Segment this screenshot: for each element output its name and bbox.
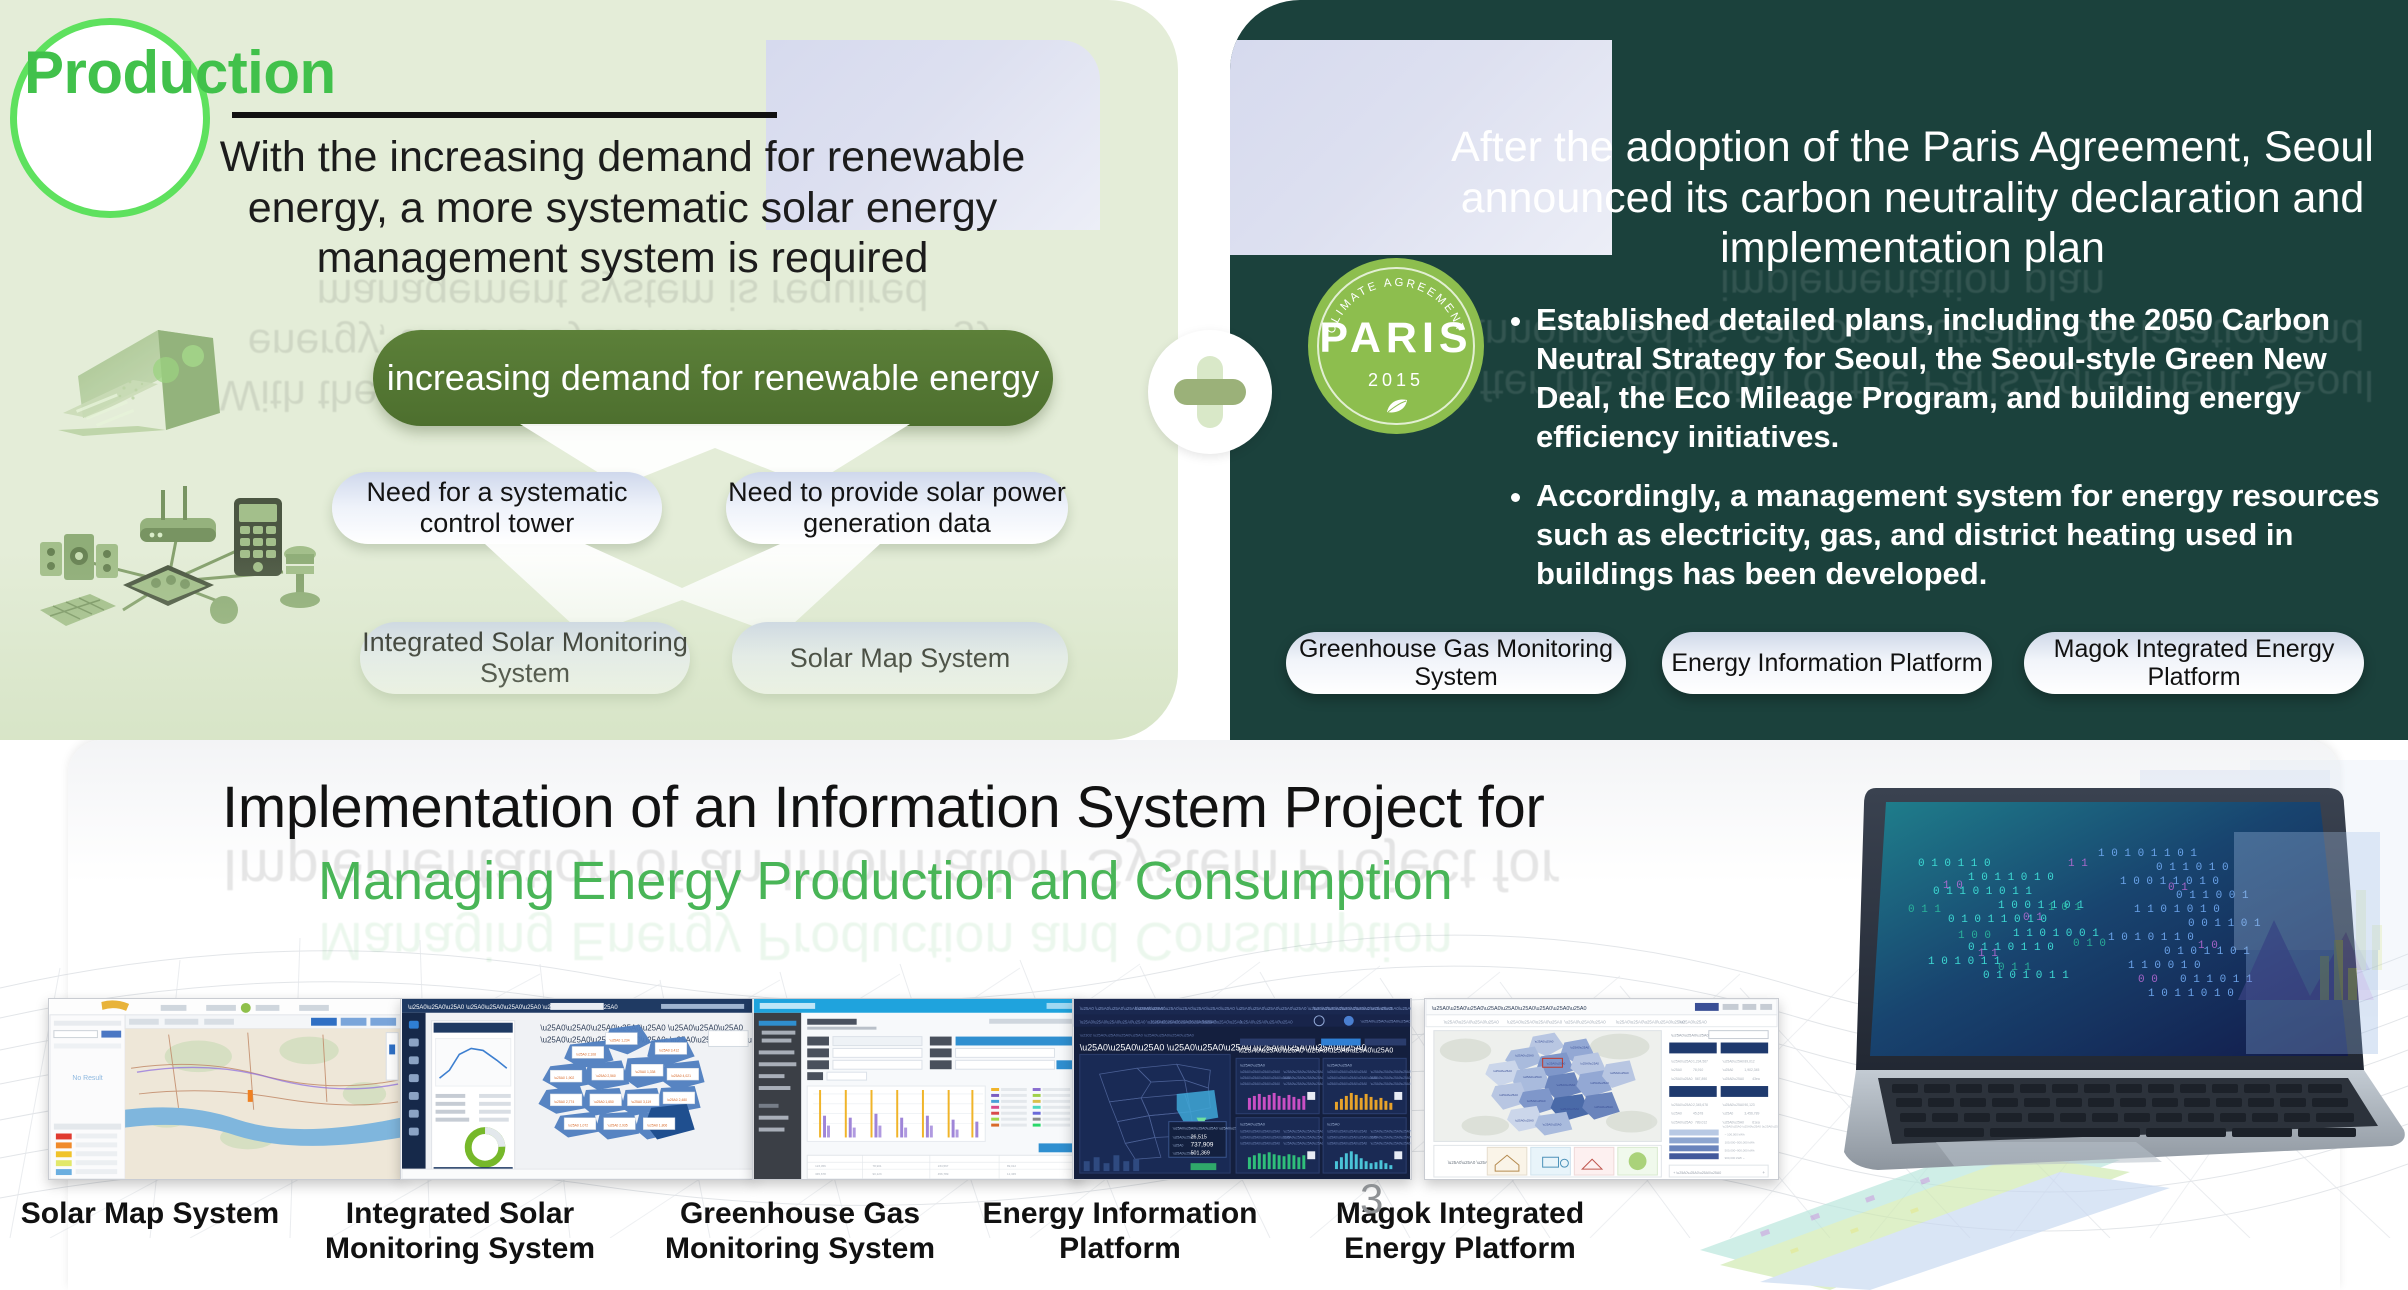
svg-text:\u25A0\u25A0\u25A0\u25A0\u25A0: \u25A0\u25A0\u25A0\u25A0\u25A0 — [1371, 1070, 1412, 1074]
svg-text:\u25A0 1,234: \u25A0 1,234 — [610, 1039, 630, 1043]
iot-device-network-illustration — [28, 470, 328, 630]
svg-text:\u25A0\u25A0\u25A0: \u25A0\u25A0\u25A0 — [1564, 1020, 1606, 1025]
svg-text:0 1 1 0 1 0: 0 1 1 0 1 0 — [2156, 862, 2229, 874]
svg-text:\u25A0\u25A0: \u25A0\u25A0 — [1723, 1103, 1744, 1107]
svg-text:\u25A0: \u25A0 — [1723, 1068, 1734, 1072]
leaf-icon — [1386, 398, 1408, 414]
svg-text:\u25A0\u25A0: \u25A0\u25A0 — [1610, 1071, 1629, 1075]
svg-text:900,000 kWh ~: 900,000 kWh ~ — [1725, 1156, 1745, 1160]
svg-text:\u25A0\u25A0\u25A0\u25A0\u25A0: \u25A0\u25A0\u25A0\u25A0\u25A0 — [1371, 1076, 1412, 1080]
svg-text:234,567: 234,567 — [938, 1164, 949, 1168]
svg-text:0 1 1: 0 1 1 — [1908, 904, 1941, 916]
svg-text:\u25A0\u25A0\u25A0\u25A0: \u25A0\u25A0\u25A0\u25A0 — [1371, 1082, 1411, 1086]
svg-text:1 0 1 1 0 1 0: 1 0 1 1 0 1 0 — [2148, 988, 2234, 1000]
consumption-panel: After the adoption of the Paris Agreemen… — [1230, 0, 2408, 740]
svg-text:\u25A0\u25A0: \u25A0\u25A0 — [1560, 1107, 1579, 1111]
svg-text:\u25A0\u25A0: \u25A0\u25A0 — [1570, 1045, 1589, 1049]
thumbnail-integrated-solar-monitoring[interactable]: \u25A0\u25A0\u25A0 \u25A0\u25A0\u25A0\u2… — [400, 998, 755, 1180]
svg-text:\u25A0 3,412: \u25A0 3,412 — [659, 1048, 679, 1052]
svg-text:500,000~900,000 kWh: 500,000~900,000 kWh — [1725, 1148, 1755, 1152]
svg-text:\u25A0\u25A0: \u25A0\u25A0 — [1240, 1062, 1266, 1067]
thumbnail-greenhouse-gas-monitoring[interactable]: 123,45678,901234,56789,012 345,67890,123… — [752, 998, 1082, 1180]
svg-text:\u25A0\u25A0: \u25A0\u25A0 — [1240, 1122, 1266, 1127]
svg-text:1 0: 1 0 — [2198, 940, 2218, 952]
svg-text:\u25A0\u25A0\u25A0\u25A0: \u25A0\u25A0\u25A0\u25A0 — [1361, 1019, 1412, 1024]
svg-text:1 0 1: 1 0 1 — [2048, 902, 2081, 914]
svg-text:\u25A0\u25A0\u25A0\u25A0: \u25A0\u25A0\u25A0\u25A0 — [1284, 1141, 1324, 1145]
svg-text:\u25A0\u25A0\u25A0\u25A0: \u25A0\u25A0\u25A0\u25A0 — [1327, 1070, 1367, 1074]
svg-text:\u25A0\u25A0: \u25A0\u25A0 — [1671, 1059, 1692, 1063]
svg-text:\u25A0\u25A0\u25A0\u25A0 \u25A: \u25A0\u25A0\u25A0\u25A0 \u25A0\u25A0\u2… — [1313, 1006, 1412, 1011]
svg-text:\u25A0\u25A0: \u25A0\u25A0 — [1679, 1020, 1707, 1025]
svg-text:\u25A0\u25A0\u25A0\u25A0: \u25A0\u25A0\u25A0\u25A0 — [1284, 1082, 1324, 1086]
consumption-pill-2: Energy Information Platform — [1662, 632, 1992, 694]
thumbnail-label-2: Integrated Solar Monitoring System — [300, 1196, 620, 1267]
svg-text:\u25A0\u25A0: \u25A0\u25A0 — [1543, 1123, 1562, 1127]
svg-text:\u25A0\u25A0: \u25A0\u25A0 — [1580, 1061, 1599, 1065]
svg-text:\u25A0 2,480: \u25A0 2,480 — [667, 1098, 687, 1102]
svg-text:90,123: 90,123 — [1744, 1103, 1754, 1107]
svg-text:89,012: 89,012 — [1744, 1059, 1754, 1063]
svg-text:345,678: 345,678 — [815, 1172, 826, 1176]
badge-year: 2015 — [1308, 370, 1484, 391]
svg-text:0 0: 0 0 — [2138, 974, 2158, 986]
svg-text:\u25A0\u25A0\u25A0\u25A0: \u25A0\u25A0\u25A0\u25A0 — [1240, 1020, 1293, 1025]
svg-text:\u25A0\u25A0: \u25A0\u25A0 — [1590, 1081, 1609, 1085]
svg-text:\u25A0\u25A0\u25A0\u25A0: \u25A0\u25A0\u25A0\u25A0 — [1507, 1020, 1563, 1025]
svg-text:2,345,678: 2,345,678 — [1693, 1103, 1708, 1107]
svg-text:1 0 1 0 1 1 0: 1 0 1 0 1 1 0 — [2108, 932, 2194, 944]
svg-text:\u25A0\u25A0: \u25A0\u25A0 — [1723, 1059, 1744, 1063]
svg-text:\u25A0\u25A0: \u25A0\u25A0 — [1515, 1053, 1534, 1057]
svg-text:1 1: 1 1 — [1978, 948, 1998, 960]
consumption-bullet-1: Established detailed plans, including th… — [1536, 300, 2396, 456]
svg-text:No Result: No Result — [72, 1075, 102, 1082]
svg-text:\u25A0\u25A0\u25A0\u25A0\u25A0: \u25A0\u25A0\u25A0\u25A0\u25A0 — [1371, 1130, 1412, 1134]
svg-text:\u25A0\u25A0: \u25A0\u25A0 — [1671, 1103, 1692, 1107]
svg-text:\u25A0\u25A0\u25A0\u25A0: \u25A0\u25A0\u25A0\u25A0 — [1327, 1082, 1367, 1086]
svg-text:+: + — [1762, 1171, 1765, 1176]
svg-text:\u25A0\u25A0\u25A0\u25A0: \u25A0\u25A0\u25A0\u25A0 — [1371, 1141, 1411, 1145]
svg-text:1,234,567: 1,234,567 — [1693, 1059, 1708, 1063]
svg-text:\u25A0 1,806: \u25A0 1,806 — [647, 1124, 667, 1128]
svg-text:89,012: 89,012 — [1007, 1164, 1016, 1168]
svg-text:\u25A0\u25A0\u25A0\u25A0: \u25A0\u25A0\u25A0\u25A0 — [1444, 1020, 1500, 1025]
svg-text:26,515: 26,515 — [1191, 1134, 1207, 1140]
consumption-bullet-list: Established detailed plans, including th… — [1506, 300, 2396, 613]
svg-text:78,910: 78,910 — [1693, 1068, 1703, 1072]
svg-text:0 1 0: 0 1 0 — [2073, 938, 2106, 950]
svg-text:\u25A0\u25A0: \u25A0\u25A0 — [1557, 1083, 1576, 1087]
svg-text:\u25A0\u25A0\u25A0\u25A0: \u25A0\u25A0\u25A0\u25A0 — [1240, 1141, 1280, 1145]
svg-text:\u25A0\u25A0: \u25A0\u25A0 — [1527, 1099, 1546, 1103]
svg-text:0 1: 0 1 — [2023, 912, 2043, 924]
slide-root: Production With the increasing demand fo… — [0, 0, 2408, 1290]
svg-text:501,369: 501,369 — [1191, 1150, 1210, 1156]
svg-text:1,902,345: 1,902,345 — [1744, 1068, 1759, 1072]
svg-text:\u25A0 1,072: \u25A0 1,072 — [568, 1124, 588, 1128]
svg-text:\u25A0\u25A0\u25A0\u25A0\u25A0: \u25A0\u25A0\u25A0\u25A0\u25A0 — [1371, 1135, 1412, 1139]
svg-text:\u25A0\u25A0\u25A0\u25A0: \u25A0\u25A0\u25A0\u25A0 — [1240, 1130, 1280, 1134]
thumbnail-label-4: Energy Information Platform — [960, 1196, 1280, 1267]
svg-text:0 1 1 0 1 1: 0 1 1 0 1 1 — [2180, 974, 2253, 986]
bottom-title-line-2: Managing Energy Production and Consumpti… — [318, 850, 1818, 912]
svg-text:3,456,789: 3,456,789 — [1744, 1112, 1759, 1116]
thumbnail-magok-integrated-energy-platform[interactable]: \u25A0\u25A0\u25A0\u25A0\u25A0\u25A0\u25… — [1424, 998, 1779, 1180]
svg-text:\u25A0 2,108: \u25A0 2,108 — [576, 1052, 596, 1056]
thumbnail-label-3: Greenhouse Gas Monitoring System — [640, 1196, 960, 1267]
svg-text:\u25A0\u25A0: \u25A0\u25A0 — [1499, 1093, 1518, 1097]
svg-text:\u25A0\u25A0\u25A0\u25A0\u25A0: \u25A0\u25A0\u25A0\u25A0\u25A0\u25A0\u25… — [1432, 1006, 1587, 1012]
page-number: 3 — [1360, 1175, 1383, 1223]
svg-text:\u25A0\u25A0: \u25A0\u25A0 — [1515, 1119, 1534, 1123]
bottom-title-line-1: Implementation of an Information System … — [222, 774, 1902, 841]
svg-text:789,012: 789,012 — [1695, 1121, 1707, 1125]
svg-text:1 0: 1 0 — [1943, 880, 1963, 892]
svg-text:12,345: 12,345 — [1007, 1172, 1016, 1176]
svg-text:\u25A0\u25A0: \u25A0\u25A0 — [1723, 1077, 1744, 1081]
svg-text:\u25A0\u25A0: \u25A0\u25A0 — [1671, 1077, 1692, 1081]
svg-text:\u25A0\u25A0: \u25A0\u25A0 — [1493, 1069, 1512, 1073]
consumption-pill-1: Greenhouse Gas Monitoring System — [1286, 632, 1626, 694]
thumbnail-energy-information-platform[interactable]: \u25A0 \u25A0\u25A0\u25A0\u25A0\u25A0 \u… — [1072, 998, 1412, 1180]
plus-connector — [1148, 330, 1272, 454]
production-lead-text: With the increasing demand for renewable… — [170, 132, 1075, 284]
plus-horizontal-bar — [1174, 379, 1246, 405]
svg-text:\u25A0\u25A0\u25A0\u25A0\u25A0: \u25A0\u25A0\u25A0\u25A0\u25A0 — [1616, 1020, 1685, 1025]
svg-text:1 1 0 1 0 1 0: 1 1 0 1 0 1 0 — [2134, 904, 2220, 916]
svg-text:1 0 1 1 0 1 0: 1 0 1 1 0 1 0 — [1968, 872, 2054, 884]
svg-text:\u25A0 2,560: \u25A0 2,560 — [596, 1074, 616, 1078]
svg-text:\u25A0\u25A0\u25A0\u25A0: \u25A0\u25A0\u25A0\u25A0 — [1240, 1082, 1280, 1086]
svg-text:0 1: 0 1 — [2168, 882, 2188, 894]
svg-text:\u25A0\u25A0\u25A0\u25A0: \u25A0\u25A0\u25A0\u25A0 — [1327, 1130, 1367, 1134]
production-panel: Production With the increasing demand fo… — [0, 0, 1178, 740]
svg-text:90,123: 90,123 — [872, 1172, 881, 1176]
badge-main-text: PARIS — [1308, 314, 1484, 363]
svg-text:\u25A0\u25A0: \u25A0\u25A0 — [1535, 1040, 1554, 1044]
svg-text:+ \u25A0\u25A0\u25A0\u25A0: + \u25A0\u25A0\u25A0\u25A0 — [1673, 1171, 1721, 1175]
production-rule — [232, 112, 777, 118]
svg-text:\u25A0 2,935: \u25A0 2,935 — [608, 1124, 628, 1128]
svg-text:1 1: 1 1 — [2068, 858, 2088, 870]
svg-text:\u25A0\u25A0: \u25A0\u25A0 — [1327, 1062, 1353, 1067]
svg-text:\u25A0 2,774: \u25A0 2,774 — [554, 1100, 574, 1104]
need-box-1: Need for a systematic control tower — [332, 472, 662, 544]
svg-text:43ea: 43ea — [1752, 1077, 1760, 1081]
consumption-pill-3: Magok Integrated Energy Platform — [2024, 632, 2364, 694]
svg-text:1 0 1 0 1 1 0 1: 1 0 1 0 1 1 0 1 — [2098, 848, 2197, 860]
svg-text:45,678: 45,678 — [1693, 1112, 1703, 1116]
svg-text:\u25A0\u25A0: \u25A0\u25A0 — [1671, 1121, 1692, 1125]
production-title: Production — [24, 38, 336, 107]
svg-text:~ 100,000 kWh: ~ 100,000 kWh — [1725, 1132, 1745, 1136]
laptop-with-digital-world-map: 0 1 0 1 1 01 0 1 1 0 1 0 0 1 1 0 1 0 1 1… — [1768, 770, 2408, 1210]
svg-text:\u25A0: \u25A0 — [1671, 1068, 1682, 1072]
connector-stem — [1200, 430, 1220, 740]
flow-main-box: increasing demand for renewable energy — [373, 330, 1053, 426]
thumbnail-label-5: Magok Integrated Energy Platform — [1300, 1196, 1620, 1267]
svg-text:\u25A0\u25A0: \u25A0\u25A0 — [1523, 1075, 1542, 1079]
consumption-bullet-2: Accordingly, a management system for ene… — [1536, 476, 2396, 593]
thumbnail-label-1: Solar Map System — [0, 1196, 310, 1231]
svg-text:0 1 1: 0 1 1 — [1998, 962, 2031, 974]
svg-text:\u25A0: \u25A0 — [1671, 1112, 1682, 1116]
laptop-data-illustration — [38, 318, 313, 448]
svg-text:\u25A0\u25A0: \u25A0\u25A0 — [1594, 1105, 1613, 1109]
svg-text:\u25A0: \u25A0 — [1173, 1143, 1184, 1147]
thumbnail-solar-map-system[interactable]: No Result — [48, 998, 403, 1180]
svg-text:737,909: 737,909 — [1191, 1141, 1214, 1148]
svg-text:\u25A0 1,338: \u25A0 1,338 — [635, 1070, 655, 1074]
svg-text:\u25A0\u25A0: \u25A0\u25A0 — [1547, 1061, 1566, 1065]
svg-text:\u25A0 1,902: \u25A0 1,902 — [554, 1076, 574, 1080]
svg-text:\u25A0: \u25A0 — [1723, 1112, 1734, 1116]
system-box-2: Solar Map System — [732, 622, 1068, 694]
svg-text:\u25A0 1,650: \u25A0 1,650 — [594, 1100, 614, 1104]
paris-agreement-badge: CLIMATE AGREEMENT PARIS 2015 — [1308, 258, 1484, 434]
svg-text:567,890: 567,890 — [1695, 1077, 1707, 1081]
svg-text:\u25A0 4,021: \u25A0 4,021 — [671, 1074, 691, 1078]
svg-text:\u25A0\u25A0\u25A0\u25A0: \u25A0\u25A0\u25A0\u25A0 — [1327, 1141, 1367, 1145]
svg-text:1 1 0 0 1 0: 1 1 0 0 1 0 — [2128, 960, 2201, 972]
system-box-1: Integrated Solar Monitoring System — [360, 622, 690, 694]
svg-text:0 1 0 1 1 0: 0 1 0 1 1 0 — [1918, 858, 1991, 870]
svg-text:\u25A0: \u25A0 — [1327, 1122, 1340, 1127]
svg-text:\u25A0\u25A0\u25A0\u25A0: \u25A0\u25A0\u25A0\u25A0 — [1240, 1070, 1280, 1074]
svg-text:100,000~500,000 kWh: 100,000~500,000 kWh — [1725, 1140, 1755, 1144]
need-box-2: Need to provide solar power generation d… — [726, 472, 1068, 544]
svg-text:78,901: 78,901 — [872, 1164, 881, 1168]
consumption-lead-text: After the adoption of the Paris Agreemen… — [1440, 122, 2385, 274]
svg-text:123,456: 123,456 — [815, 1164, 826, 1168]
svg-text:\u25A0\u25A0\u25A0: \u25A0\u25A0\u25A0 — [1202, 1020, 1242, 1025]
svg-text:1 0 0: 1 0 0 — [1958, 930, 1991, 942]
svg-text:\u25A0 3,119: \u25A0 3,119 — [631, 1100, 651, 1104]
svg-text:\u2302 \u25A0\u25A0\u25A0\u25A: \u2302 \u25A0\u25A0\u25A0\u25A0 \u25A0\u… — [1080, 1033, 1195, 1038]
svg-text:\u25A0\u25A0\u25A0 \u25A0\u25A: \u25A0\u25A0\u25A0 \u25A0\u25A0\u25A0\u2… — [1238, 1047, 1393, 1054]
svg-text:456,789: 456,789 — [938, 1172, 949, 1176]
